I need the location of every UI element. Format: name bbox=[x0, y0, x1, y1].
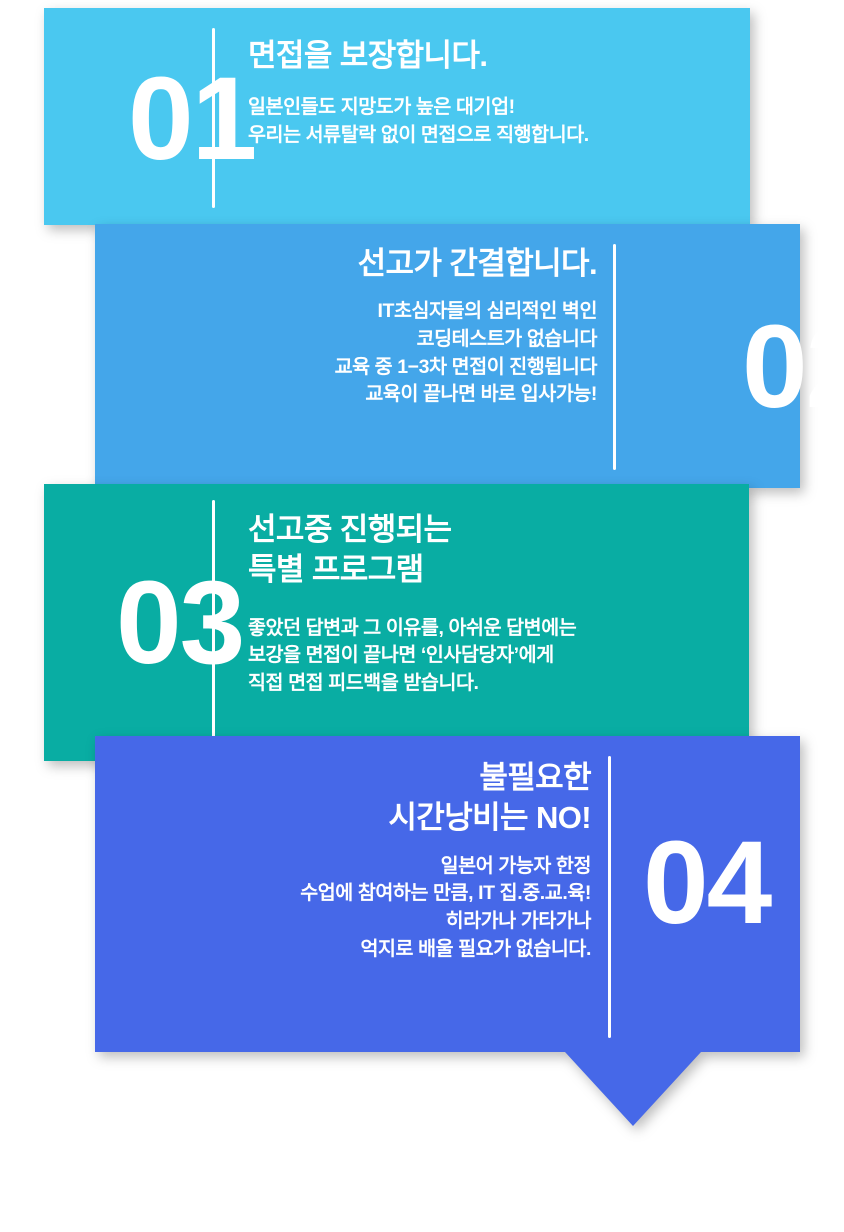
card-1-headline: 면접을 보장합니다. bbox=[248, 36, 718, 76]
infographic-canvas: 01 면접을 보장합니다. 일본인들도 지망도가 높은 대기업! 우리는 서류탈… bbox=[0, 0, 844, 1232]
card-3-headline: 선고중 진행되는 특별 프로그램 bbox=[248, 510, 738, 591]
card-3-step-number: 03 bbox=[116, 564, 243, 682]
card-2-textblock: 선고가 간결합니다. IT초심자들의 심리적인 벽인 코딩테스트가 없습니다 교… bbox=[155, 244, 597, 409]
card-3-divider bbox=[212, 500, 215, 760]
card-4-textblock: 불필요한 시간낭비는 NO! 일본어 가능자 한정 수업에 참여하는 만큼, I… bbox=[129, 758, 591, 963]
card-2-headline: 선고가 간결합니다. bbox=[155, 244, 597, 284]
card-1-divider bbox=[212, 28, 215, 208]
card-4-step-number: 04 bbox=[643, 824, 770, 942]
card-3-textblock: 선고중 진행되는 특별 프로그램 좋았던 답변과 그 이유를, 아쉬운 답변에는… bbox=[248, 510, 738, 698]
card-4-body-text: 일본어 가능자 한정 수업에 참여하는 만큼, IT 집.중.교.육! 히라가나… bbox=[129, 853, 591, 964]
card-2-step-number: 02 bbox=[742, 308, 844, 426]
card-1-step-number: 01 bbox=[128, 60, 255, 178]
card-4-headline: 불필요한 시간낭비는 NO! bbox=[129, 758, 591, 839]
card-3-body-text: 좋았던 답변과 그 이유를, 아쉬운 답변에는 보강을 면접이 끝나면 ‘인사담… bbox=[248, 615, 738, 698]
card-1-textblock: 면접을 보장합니다. 일본인들도 지망도가 높은 대기업! 우리는 서류탈락 없… bbox=[248, 36, 718, 150]
card-1-body-text: 일본인들도 지망도가 높은 대기업! 우리는 서류탈락 없이 면접으로 직행합니… bbox=[248, 94, 718, 149]
card-2-divider bbox=[613, 244, 616, 470]
step-card-4: 04 불필요한 시간낭비는 NO! 일본어 가능자 한정 수업에 참여하는 만큼… bbox=[95, 736, 800, 1126]
card-4-divider bbox=[608, 756, 611, 1038]
card-2-body-text: IT초심자들의 심리적인 벽인 코딩테스트가 없습니다 교육 중 1−3차 면접… bbox=[155, 298, 597, 409]
